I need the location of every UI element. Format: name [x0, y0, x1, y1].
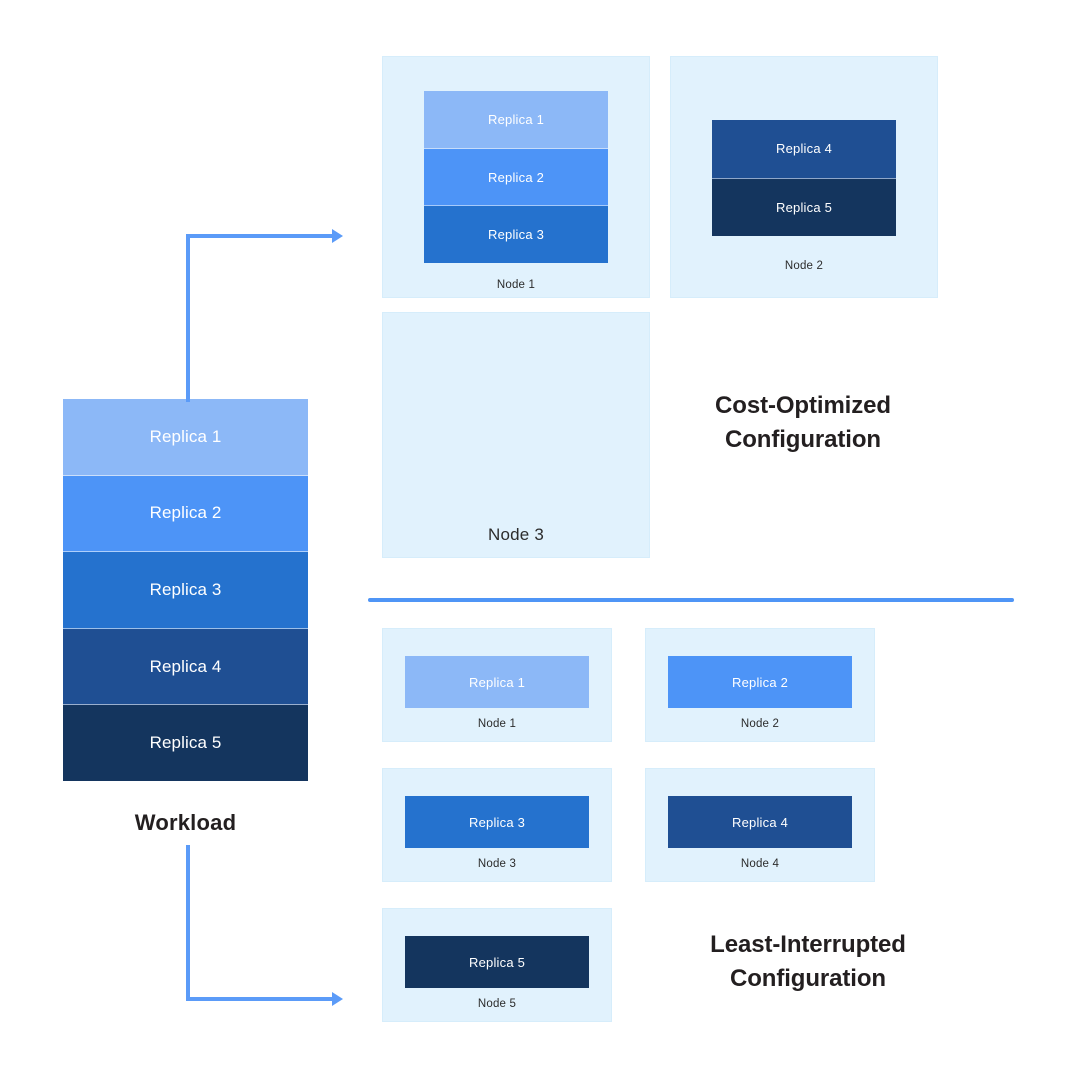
least-node-2-replica-2: Replica 2 — [668, 656, 852, 708]
workload-replica-5-label: Replica 5 — [150, 733, 222, 753]
least-interrupted-title: Least-Interrupted Configuration — [658, 928, 958, 996]
connector-up-horizontal — [186, 234, 334, 238]
workload-replica-3-label: Replica 3 — [150, 580, 222, 600]
least-node-5-label: Node 5 — [478, 998, 516, 1010]
cost-node-2-replica-5-label: Replica 5 — [776, 200, 832, 215]
cost-node-1-replicas: Replica 1 Replica 2 Replica 3 — [424, 91, 608, 263]
least-node-2-label: Node 2 — [741, 718, 779, 730]
least-node-5-replica-5: Replica 5 — [405, 936, 589, 988]
workload-replica-1: Replica 1 — [63, 399, 308, 476]
cost-optimized-title: Cost-Optimized Configuration — [653, 389, 953, 457]
workload-title: Workload — [63, 810, 308, 836]
cost-node-1-replica-1: Replica 1 — [424, 91, 608, 149]
workload-replica-3: Replica 3 — [63, 552, 308, 629]
cost-node-1: Replica 1 Replica 2 Replica 3 Node 1 — [382, 56, 650, 298]
connector-down-vertical — [186, 845, 190, 1001]
least-node-5: Replica 5 Node 5 — [382, 908, 612, 1022]
least-interrupted-title-line-1: Least-Interrupted — [658, 928, 958, 962]
least-node-4-replica-4: Replica 4 — [668, 796, 852, 848]
cost-node-2-replica-4: Replica 4 — [712, 120, 896, 179]
cost-node-1-replica-2: Replica 2 — [424, 149, 608, 207]
cost-node-2-label: Node 2 — [785, 260, 823, 272]
cost-node-2-replica-5: Replica 5 — [712, 179, 896, 237]
connector-down-horizontal — [186, 997, 334, 1001]
workload-replica-5: Replica 5 — [63, 705, 308, 781]
cost-node-1-replica-2-label: Replica 2 — [488, 170, 544, 185]
cost-node-1-replica-1-label: Replica 1 — [488, 112, 544, 127]
least-node-2: Replica 2 Node 2 — [645, 628, 875, 742]
cost-node-2: Replica 4 Replica 5 Node 2 — [670, 56, 938, 298]
workload-replica-2: Replica 2 — [63, 476, 308, 553]
workload-replica-4: Replica 4 — [63, 629, 308, 706]
workload-replica-1-label: Replica 1 — [150, 427, 222, 447]
least-interrupted-title-line-2: Configuration — [658, 962, 958, 996]
least-node-3-replica-3: Replica 3 — [405, 796, 589, 848]
least-node-1: Replica 1 Node 1 — [382, 628, 612, 742]
cost-node-1-replica-3-label: Replica 3 — [488, 227, 544, 242]
workload-stack: Replica 1 Replica 2 Replica 3 Replica 4 … — [63, 399, 308, 781]
least-node-4: Replica 4 Node 4 — [645, 768, 875, 882]
cost-node-2-replica-4-label: Replica 4 — [776, 141, 832, 156]
least-node-1-label: Node 1 — [478, 718, 516, 730]
least-node-4-replica-4-label: Replica 4 — [732, 815, 788, 830]
cost-node-3: Node 3 — [382, 312, 650, 558]
cost-optimized-title-line-2: Configuration — [653, 423, 953, 457]
cost-node-1-label: Node 1 — [497, 279, 535, 291]
least-node-3-label: Node 3 — [478, 858, 516, 870]
cost-node-1-replica-3: Replica 3 — [424, 206, 608, 263]
least-node-1-replica-1: Replica 1 — [405, 656, 589, 708]
connector-up-vertical — [186, 234, 190, 402]
least-node-5-replica-5-label: Replica 5 — [469, 955, 525, 970]
least-node-3-replica-3-label: Replica 3 — [469, 815, 525, 830]
cost-optimized-title-line-1: Cost-Optimized — [653, 389, 953, 423]
section-divider — [368, 598, 1014, 602]
diagram-canvas: Replica 1 Replica 2 Replica 3 Replica 4 … — [0, 0, 1080, 1080]
cost-node-2-replicas: Replica 4 Replica 5 — [712, 120, 896, 236]
least-node-3: Replica 3 Node 3 — [382, 768, 612, 882]
least-node-4-label: Node 4 — [741, 858, 779, 870]
least-node-2-replica-2-label: Replica 2 — [732, 675, 788, 690]
arrow-right-icon-bottom — [332, 992, 343, 1006]
workload-replica-2-label: Replica 2 — [150, 503, 222, 523]
cost-node-3-label: Node 3 — [488, 525, 544, 545]
arrow-right-icon-top — [332, 229, 343, 243]
workload-replica-4-label: Replica 4 — [150, 657, 222, 677]
least-node-1-replica-1-label: Replica 1 — [469, 675, 525, 690]
